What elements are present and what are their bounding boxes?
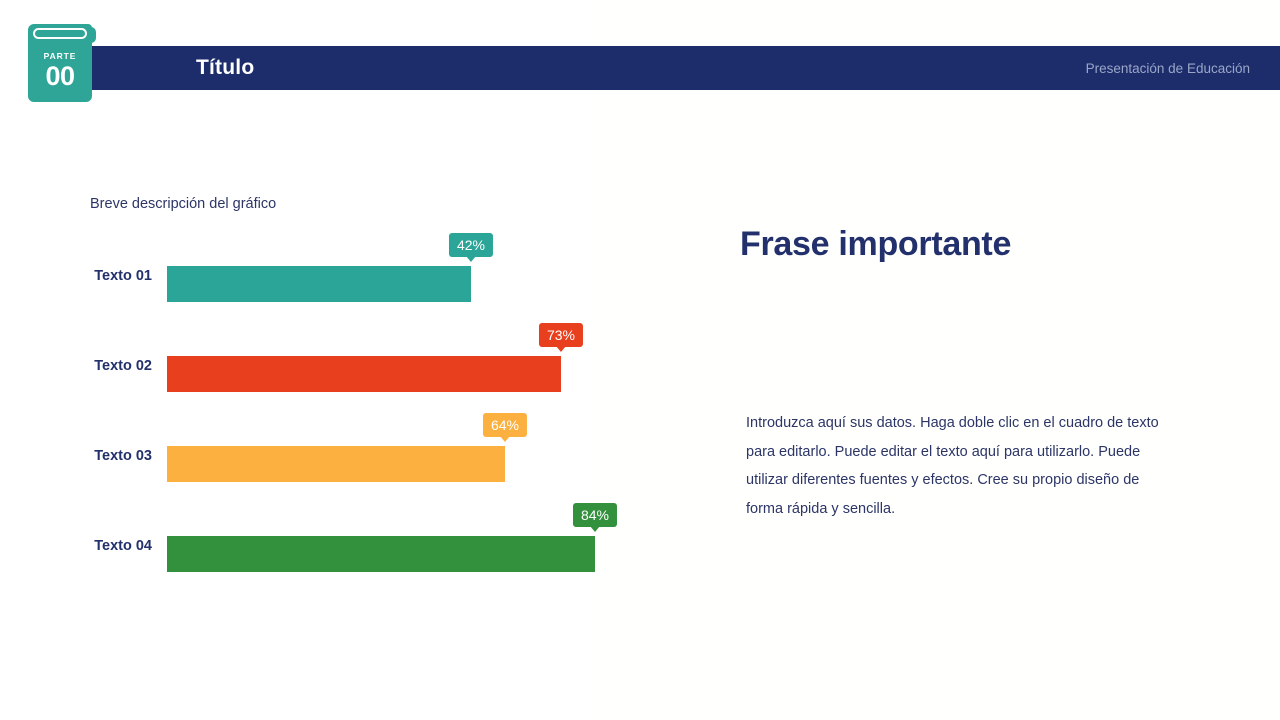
bar-row: Texto 04 84% [0, 518, 660, 608]
bar-row: Texto 03 64% [0, 428, 660, 518]
right-panel-background [592, 0, 1280, 720]
bar-fill [167, 356, 561, 392]
bar-value-tooltip: 64% [483, 413, 527, 437]
bar-fill [167, 266, 471, 302]
bar-value-tooltip: 42% [449, 233, 493, 257]
bar-label: Texto 02 [0, 356, 152, 376]
bar-track: 73% [167, 356, 561, 392]
bar-row: Texto 02 73% [0, 338, 660, 428]
quote-body: Introduzca aquí sus datos. Haga doble cl… [746, 409, 1176, 523]
bar-fill [167, 536, 595, 572]
bar-label: Texto 04 [0, 536, 152, 556]
bar-track: 84% [167, 536, 595, 572]
bar-label: Texto 03 [0, 446, 152, 466]
bar-track: 42% [167, 266, 471, 302]
bar-track: 64% [167, 446, 505, 482]
quote-title: Frase importante [740, 222, 1011, 266]
bar-value-tooltip: 84% [573, 503, 617, 527]
bar-value-tooltip: 73% [539, 323, 583, 347]
bar-label: Texto 01 [0, 266, 152, 286]
header-subtitle: Presentación de Educación [1086, 60, 1250, 78]
bar-chart: Texto 01 42% Texto 02 73% Texto 03 64% T… [0, 0, 660, 720]
bar-fill [167, 446, 505, 482]
